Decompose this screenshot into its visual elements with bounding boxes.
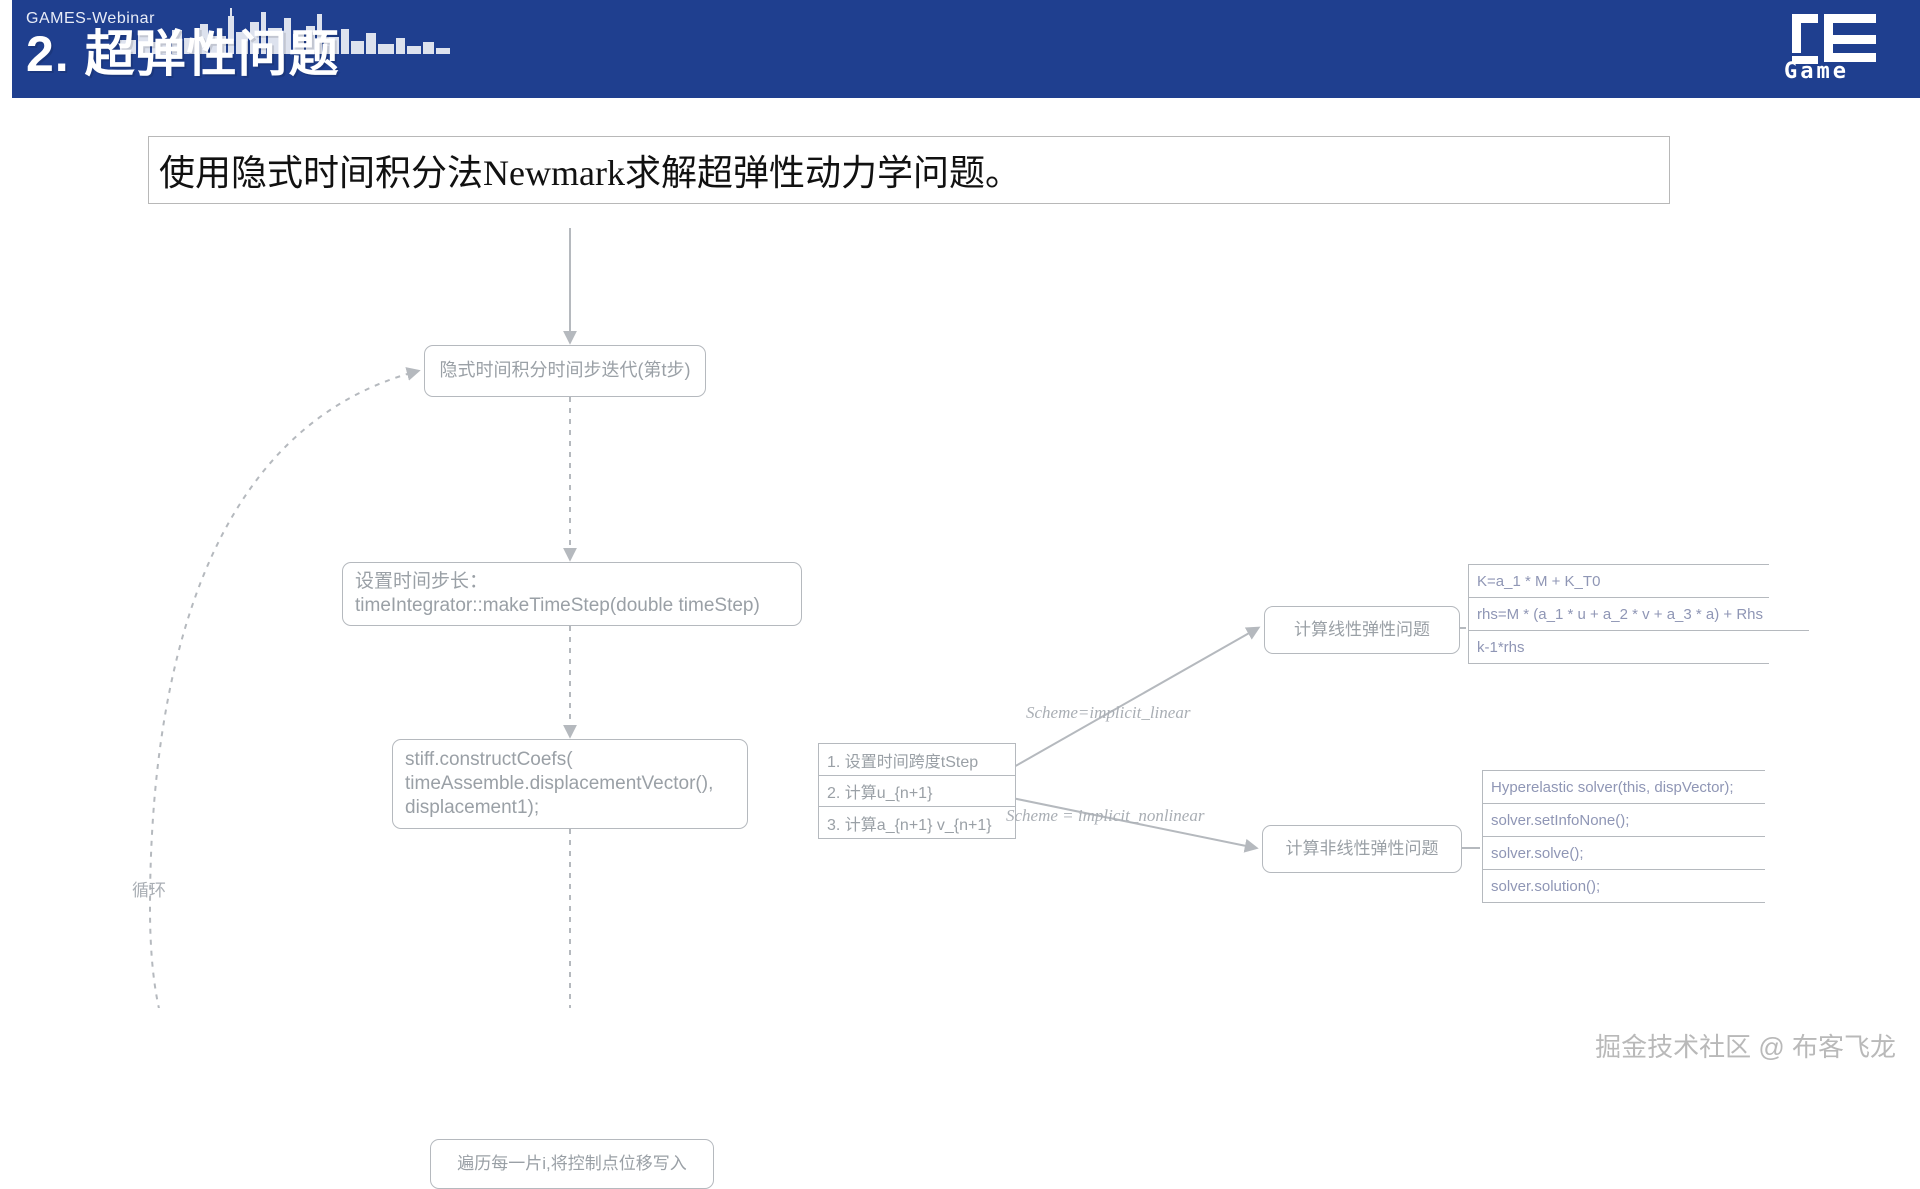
- node-write-control-points-label: 遍历每一片i,将控制点位移写入: [457, 1153, 687, 1175]
- nonlinear-code-list: Hyperelastic solver(this, dispVector); s…: [1482, 770, 1765, 903]
- step-list-item-1[interactable]: 1. 设置时间跨度tStep: [818, 743, 1016, 776]
- linear-formula-list: K=a_1 * M + K_T0 rhs=M * (a_1 * u + a_2 …: [1468, 564, 1769, 664]
- subtitle-box: 使用隐式时间积分法Newmark求解超弹性动力学问题。: [148, 136, 1670, 204]
- node-write-control-points[interactable]: 遍历每一片i,将控制点位移写入: [430, 1139, 714, 1189]
- step-list-item-2[interactable]: 2. 计算u_{n+1}: [818, 775, 1016, 808]
- flowchart: 隐式时间积分时间步迭代(第t步) 设置时间步长： timeIntegrator:…: [0, 208, 1920, 1008]
- step-list: 1. 设置时间跨度tStep 2. 计算u_{n+1} 3. 计算a_{n+1}…: [818, 743, 1016, 839]
- node-set-timestep-line1: 设置时间步长：: [355, 570, 789, 594]
- linear-formula-line-3: k-1*rhs: [1469, 631, 1769, 664]
- watermark: 掘金技术社区 @ 布客飞龙: [1595, 1027, 1896, 1064]
- nonlinear-code-line-1: Hyperelastic solver(this, dispVector);: [1483, 771, 1765, 804]
- subtitle-text: 使用隐式时间积分法Newmark求解超弹性动力学问题。: [159, 144, 1021, 196]
- igame-logo: Game: [1770, 12, 1898, 86]
- node-nonlinear-elastic-label: 计算非线性弹性问题: [1286, 838, 1439, 860]
- node-nonlinear-elastic-problem[interactable]: 计算非线性弹性问题: [1262, 825, 1462, 873]
- edge-label-implicit-linear: Scheme=implicit_linear: [1026, 703, 1190, 723]
- node-set-timestep-line2: timeIntegrator::makeTimeStep(double time…: [355, 594, 789, 618]
- node-linear-elastic-problem[interactable]: 计算线性弹性问题: [1264, 606, 1460, 654]
- nonlinear-code-line-4: solver.solution();: [1483, 870, 1765, 903]
- page-title: 2. 超弹性问题: [26, 14, 340, 86]
- node-iteration[interactable]: 隐式时间积分时间步迭代(第t步): [424, 345, 706, 397]
- header-accent-stripe: [0, 0, 12, 98]
- nonlinear-code-line-3: solver.solve();: [1483, 837, 1765, 870]
- node-iteration-label: 隐式时间积分时间步迭代(第t步): [440, 359, 691, 382]
- igame-logo-icon: [1788, 12, 1880, 64]
- linear-formula-line-1: K=a_1 * M + K_T0: [1469, 565, 1769, 598]
- node-stiff-construct-coefs[interactable]: stiff.constructCoefs( timeAssemble.displ…: [392, 739, 748, 829]
- igame-logo-text: Game: [1784, 59, 1849, 84]
- node-stiff-line3: displacement1);: [405, 796, 735, 820]
- edge-label-implicit-nonlinear: Scheme = implicit_nonlinear: [1006, 806, 1204, 826]
- node-stiff-line1: stiff.constructCoefs(: [405, 748, 735, 772]
- linear-formula-line-2: rhs=M * (a_1 * u + a_2 * v + a_3 * a) + …: [1469, 598, 1809, 631]
- node-linear-elastic-label: 计算线性弹性问题: [1294, 619, 1430, 641]
- loop-label: 循环: [132, 876, 166, 901]
- header-bar: GAMES-Webinar: [0, 0, 1920, 98]
- step-list-item-3[interactable]: 3. 计算a_{n+1} v_{n+1}: [818, 806, 1016, 839]
- nonlinear-code-line-2: solver.setInfoNone();: [1483, 804, 1765, 837]
- node-stiff-line2: timeAssemble.displacementVector(),: [405, 772, 735, 796]
- node-set-timestep[interactable]: 设置时间步长： timeIntegrator::makeTimeStep(dou…: [342, 562, 802, 626]
